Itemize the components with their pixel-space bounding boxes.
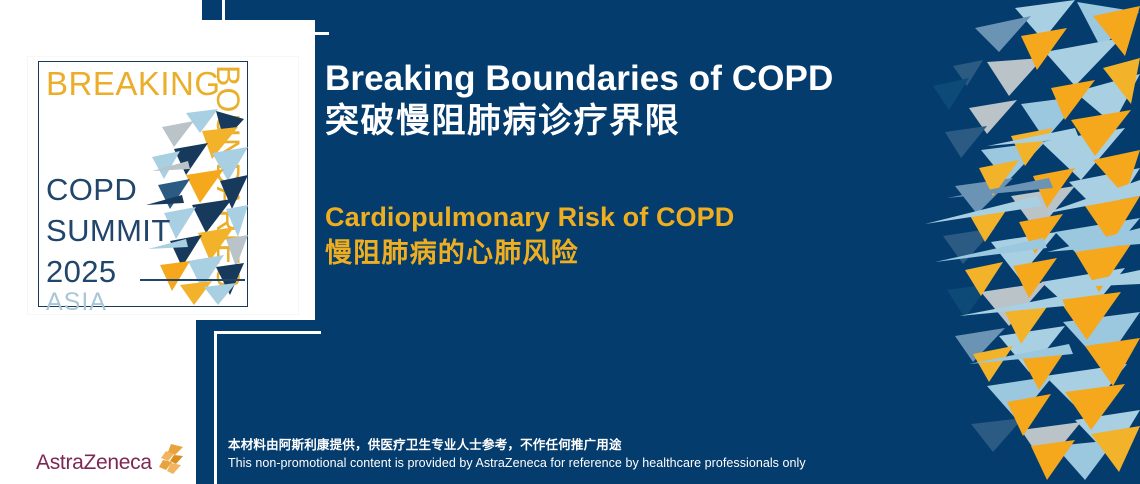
astrazeneca-ribbon-mark (154, 443, 184, 475)
title-block: Breaking Boundaries of COPD 突破慢阻肺病诊疗界限 (325, 58, 965, 143)
subtitle-block: Cardiopulmonary Risk of COPD 慢阻肺病的心肺风险 (325, 201, 965, 271)
corner-bracket-top (222, 0, 329, 35)
astrazeneca-logo: AstraZeneca (36, 443, 176, 479)
disclaimer-english: This non-promotional content is provided… (228, 454, 928, 472)
title-english: Breaking Boundaries of COPD (325, 58, 965, 99)
logo-divider-rule (140, 279, 245, 281)
event-logo-card: BREAKING BOUNDARIES (28, 57, 298, 314)
logo-region-text: ASIA (46, 290, 107, 315)
logo-year-text: 2025 (46, 256, 117, 287)
astrazeneca-wordmark: AstraZeneca (36, 452, 152, 473)
logo-boundaries-text: BOUNDARIES (212, 65, 244, 315)
title-slide: BREAKING BOUNDARIES (0, 0, 1140, 484)
subtitle-chinese: 慢阻肺病的心肺风险 (325, 235, 965, 271)
subtitle-english: Cardiopulmonary Risk of COPD (325, 201, 965, 235)
logo-breaking-text: BREAKING (46, 67, 221, 100)
footer-divider-rule (214, 430, 216, 484)
logo-copd-text: COPD (46, 174, 137, 205)
logo-summit-text: SUMMIT (46, 215, 171, 246)
footer-disclaimer: 本材料由阿斯利康提供，供医疗卫生专业人士参考，不作任何推广用途 This non… (228, 436, 928, 472)
disclaimer-chinese: 本材料由阿斯利康提供，供医疗卫生专业人士参考，不作任何推广用途 (228, 436, 928, 454)
title-chinese: 突破慢阻肺病诊疗界限 (325, 99, 965, 143)
